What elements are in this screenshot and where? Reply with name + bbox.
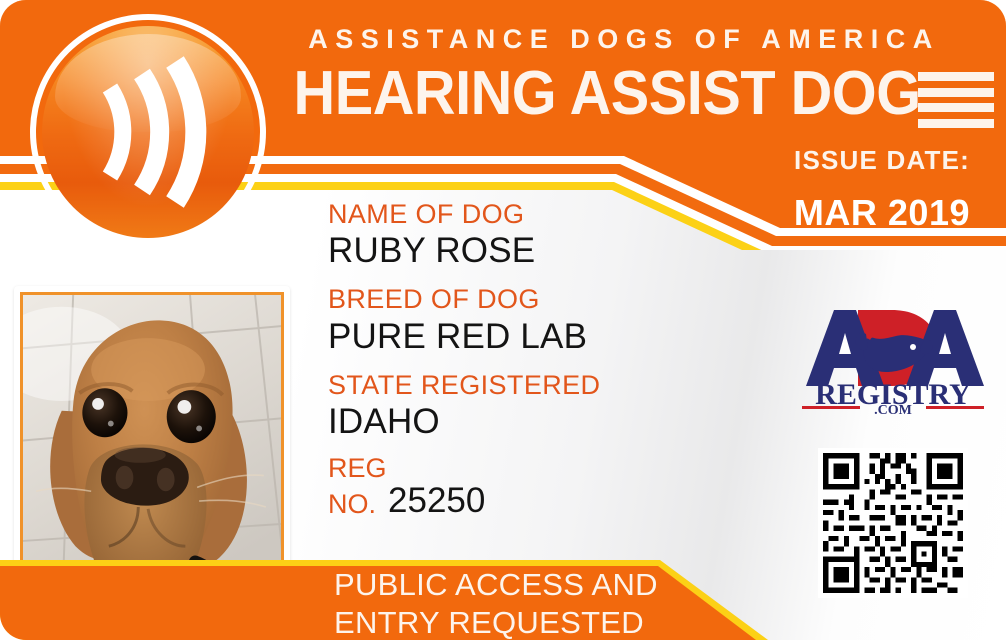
ada-tld-row: .COM: [800, 400, 986, 426]
field-reg-no: REG NO. 25250: [328, 454, 748, 519]
hearing-logo: [30, 14, 266, 250]
field-breed-of-dog: BREED OF DOG PURE RED LAB: [328, 285, 748, 356]
reg-number-value: 25250: [388, 483, 485, 519]
sound-wave-icon: [42, 26, 254, 238]
footer-line-1: PUBLIC ACCESS AND: [334, 566, 754, 604]
field-value: IDAHO: [328, 401, 748, 442]
field-state-registered: STATE REGISTERED IDAHO: [328, 371, 748, 442]
field-list: NAME OF DOG RUBY ROSE BREED OF DOG PURE …: [328, 200, 748, 519]
card-title: HEARING ASSIST DOG: [294, 58, 867, 129]
field-label: STATE REGISTERED: [328, 371, 748, 400]
field-label: NAME OF DOG: [328, 200, 748, 229]
qr-code-icon[interactable]: [818, 448, 968, 598]
reg-row: NO. 25250: [328, 483, 748, 519]
qr-code-graphic: [818, 448, 968, 598]
field-name-of-dog: NAME OF DOG RUBY ROSE: [328, 200, 748, 271]
field-value: PURE RED LAB: [328, 316, 748, 357]
organization-name: ASSISTANCE DOGS OF AMERICA: [274, 24, 974, 55]
stripes-icon: [918, 72, 994, 128]
field-value: RUBY ROSE: [328, 230, 748, 271]
issue-date-value: MAR 2019: [794, 192, 970, 234]
ada-registry-logo: REGISTRY .COM: [800, 300, 986, 412]
ada-tld: .COM: [874, 403, 912, 418]
footer-text: PUBLIC ACCESS AND ENTRY REQUESTED: [334, 566, 754, 640]
ada-registry-logo-graphic: REGISTRY: [800, 300, 986, 412]
issue-date-label: ISSUE DATE:: [794, 145, 970, 176]
footer-line-2: ENTRY REQUESTED: [334, 604, 754, 640]
reg-label-line1: REG: [328, 454, 748, 483]
reg-label-line2: NO.: [328, 490, 376, 519]
id-card: ASSISTANCE DOGS OF AMERICA HEARING ASSIS…: [0, 0, 1006, 640]
field-label: BREED OF DOG: [328, 285, 748, 314]
